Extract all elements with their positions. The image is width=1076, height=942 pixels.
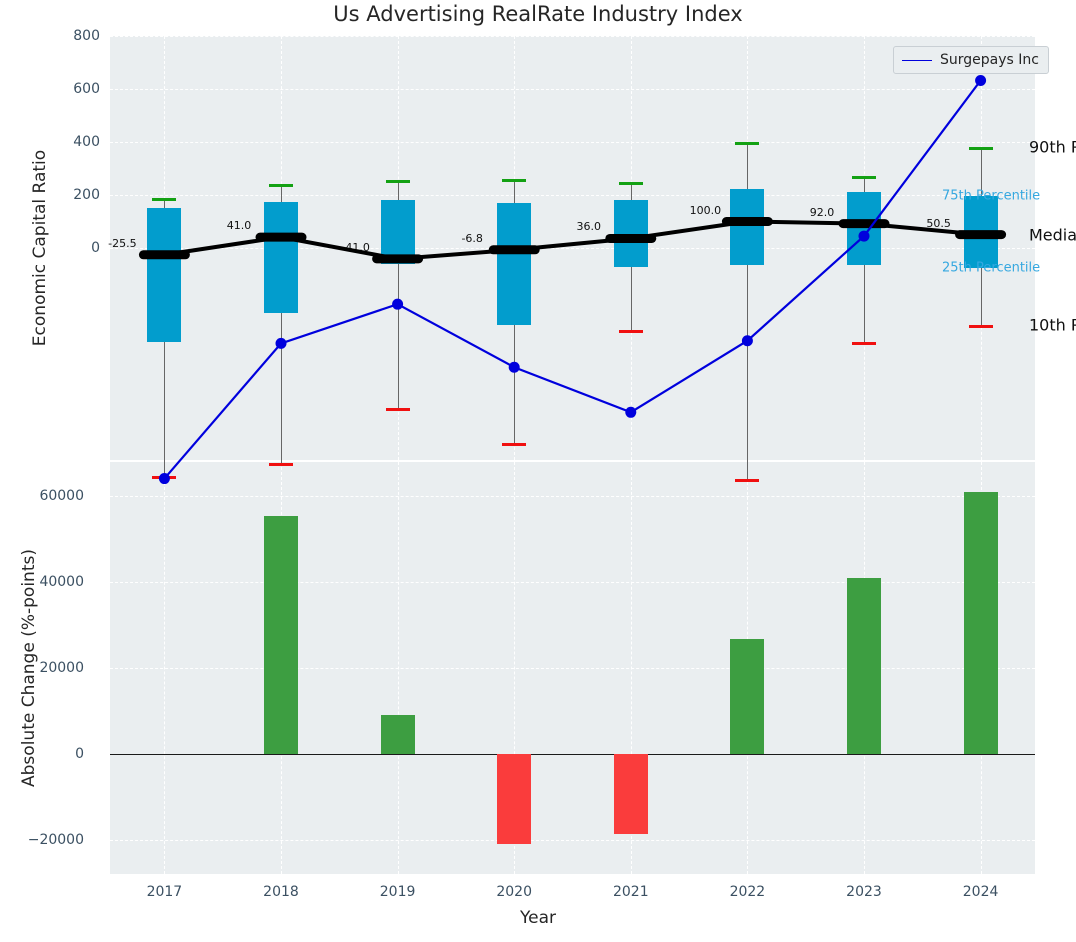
p90-cap bbox=[619, 182, 643, 185]
p90-cap bbox=[269, 184, 293, 187]
x-tick-label-2021: 2021 bbox=[591, 884, 671, 900]
annotation-0: 90th Percentile bbox=[1029, 138, 1076, 157]
legend: Surgepays Inc bbox=[893, 46, 1049, 74]
bottom-panel-plot-area bbox=[110, 462, 1035, 874]
box-iqr bbox=[614, 200, 648, 266]
top-gridline bbox=[110, 89, 1035, 90]
p90-cap bbox=[852, 176, 876, 179]
bottom-gridline bbox=[110, 840, 1035, 841]
top-y-tick-label: 200 bbox=[20, 187, 100, 203]
bottom-y-tick-label: 0 bbox=[4, 746, 84, 762]
median-value-label: 41.0 bbox=[227, 219, 252, 232]
annotation-3: 25th Percentile bbox=[942, 260, 1040, 275]
p90-cap bbox=[152, 198, 176, 201]
box-iqr bbox=[730, 189, 764, 265]
top-y-tick-label: 800 bbox=[20, 28, 100, 44]
p10-cap bbox=[969, 325, 993, 328]
bottom-gridline-v bbox=[398, 462, 399, 874]
median-value-label: 92.0 bbox=[810, 206, 835, 219]
median-value-label: -25.5 bbox=[108, 237, 136, 250]
box-iqr bbox=[497, 203, 531, 325]
top-gridline bbox=[110, 195, 1035, 196]
p10-cap bbox=[269, 463, 293, 466]
x-tick-label-2022: 2022 bbox=[707, 884, 787, 900]
chart-figure: Us Advertising RealRate Industry Index E… bbox=[0, 0, 1076, 942]
p10-cap bbox=[152, 476, 176, 479]
annotation-2: Median bbox=[1029, 225, 1076, 244]
top-panel-plot-area bbox=[110, 36, 1035, 460]
x-tick-label-2018: 2018 bbox=[241, 884, 321, 900]
median-value-label: 36.0 bbox=[577, 220, 602, 233]
p10-cap bbox=[735, 479, 759, 482]
bottom-gridline bbox=[110, 668, 1035, 669]
p90-cap bbox=[502, 179, 526, 182]
annotation-1: 75th Percentile bbox=[942, 189, 1040, 204]
bar-2019 bbox=[381, 715, 415, 754]
x-axis-label: Year bbox=[0, 908, 1076, 928]
bar-2021 bbox=[614, 754, 648, 834]
median-value-label: -6.8 bbox=[461, 232, 482, 245]
median-value-label: -41.0 bbox=[341, 241, 369, 254]
top-y-tick-label: 600 bbox=[20, 81, 100, 97]
box-iqr bbox=[264, 202, 298, 313]
bar-2018 bbox=[264, 516, 298, 754]
p90-cap bbox=[735, 142, 759, 145]
p90-cap bbox=[969, 147, 993, 150]
bottom-y-tick-label: −20000 bbox=[4, 832, 84, 848]
bottom-gridline bbox=[110, 582, 1035, 583]
top-y-tick-label: 0 bbox=[20, 240, 100, 256]
bar-2020 bbox=[497, 754, 531, 844]
top-y-tick-label: 400 bbox=[20, 134, 100, 150]
box-iqr bbox=[847, 192, 881, 265]
box-iqr bbox=[147, 208, 181, 342]
p10-cap bbox=[619, 330, 643, 333]
page-title: Us Advertising RealRate Industry Index bbox=[0, 2, 1076, 26]
bottom-gridline bbox=[110, 496, 1035, 497]
x-tick-label-2017: 2017 bbox=[124, 884, 204, 900]
bar-2022 bbox=[730, 639, 764, 754]
legend-label-surgepays: Surgepays Inc bbox=[940, 52, 1039, 68]
x-tick-label-2019: 2019 bbox=[358, 884, 438, 900]
p10-cap bbox=[502, 443, 526, 446]
top-gridline bbox=[110, 36, 1035, 37]
legend-line-swatch bbox=[902, 60, 932, 61]
bottom-y-tick-label: 20000 bbox=[4, 660, 84, 676]
p10-cap bbox=[386, 408, 410, 411]
top-gridline bbox=[110, 248, 1035, 249]
bottom-y-tick-label: 40000 bbox=[4, 574, 84, 590]
bar-2023 bbox=[847, 578, 881, 754]
box-iqr bbox=[964, 196, 998, 268]
bottom-gridline-v bbox=[164, 462, 165, 874]
x-tick-label-2024: 2024 bbox=[941, 884, 1021, 900]
p90-cap bbox=[386, 180, 410, 183]
bar-2024 bbox=[964, 492, 998, 754]
x-tick-label-2020: 2020 bbox=[474, 884, 554, 900]
bottom-y-tick-label: 60000 bbox=[4, 488, 84, 504]
x-tick-label-2023: 2023 bbox=[824, 884, 904, 900]
p10-cap bbox=[852, 342, 876, 345]
zero-baseline bbox=[110, 754, 1035, 755]
median-value-label: 50.5 bbox=[926, 217, 951, 230]
box-iqr bbox=[381, 200, 415, 264]
median-value-label: 100.0 bbox=[690, 204, 722, 217]
annotation-4: 10th Percentile bbox=[1029, 315, 1076, 334]
top-gridline bbox=[110, 142, 1035, 143]
